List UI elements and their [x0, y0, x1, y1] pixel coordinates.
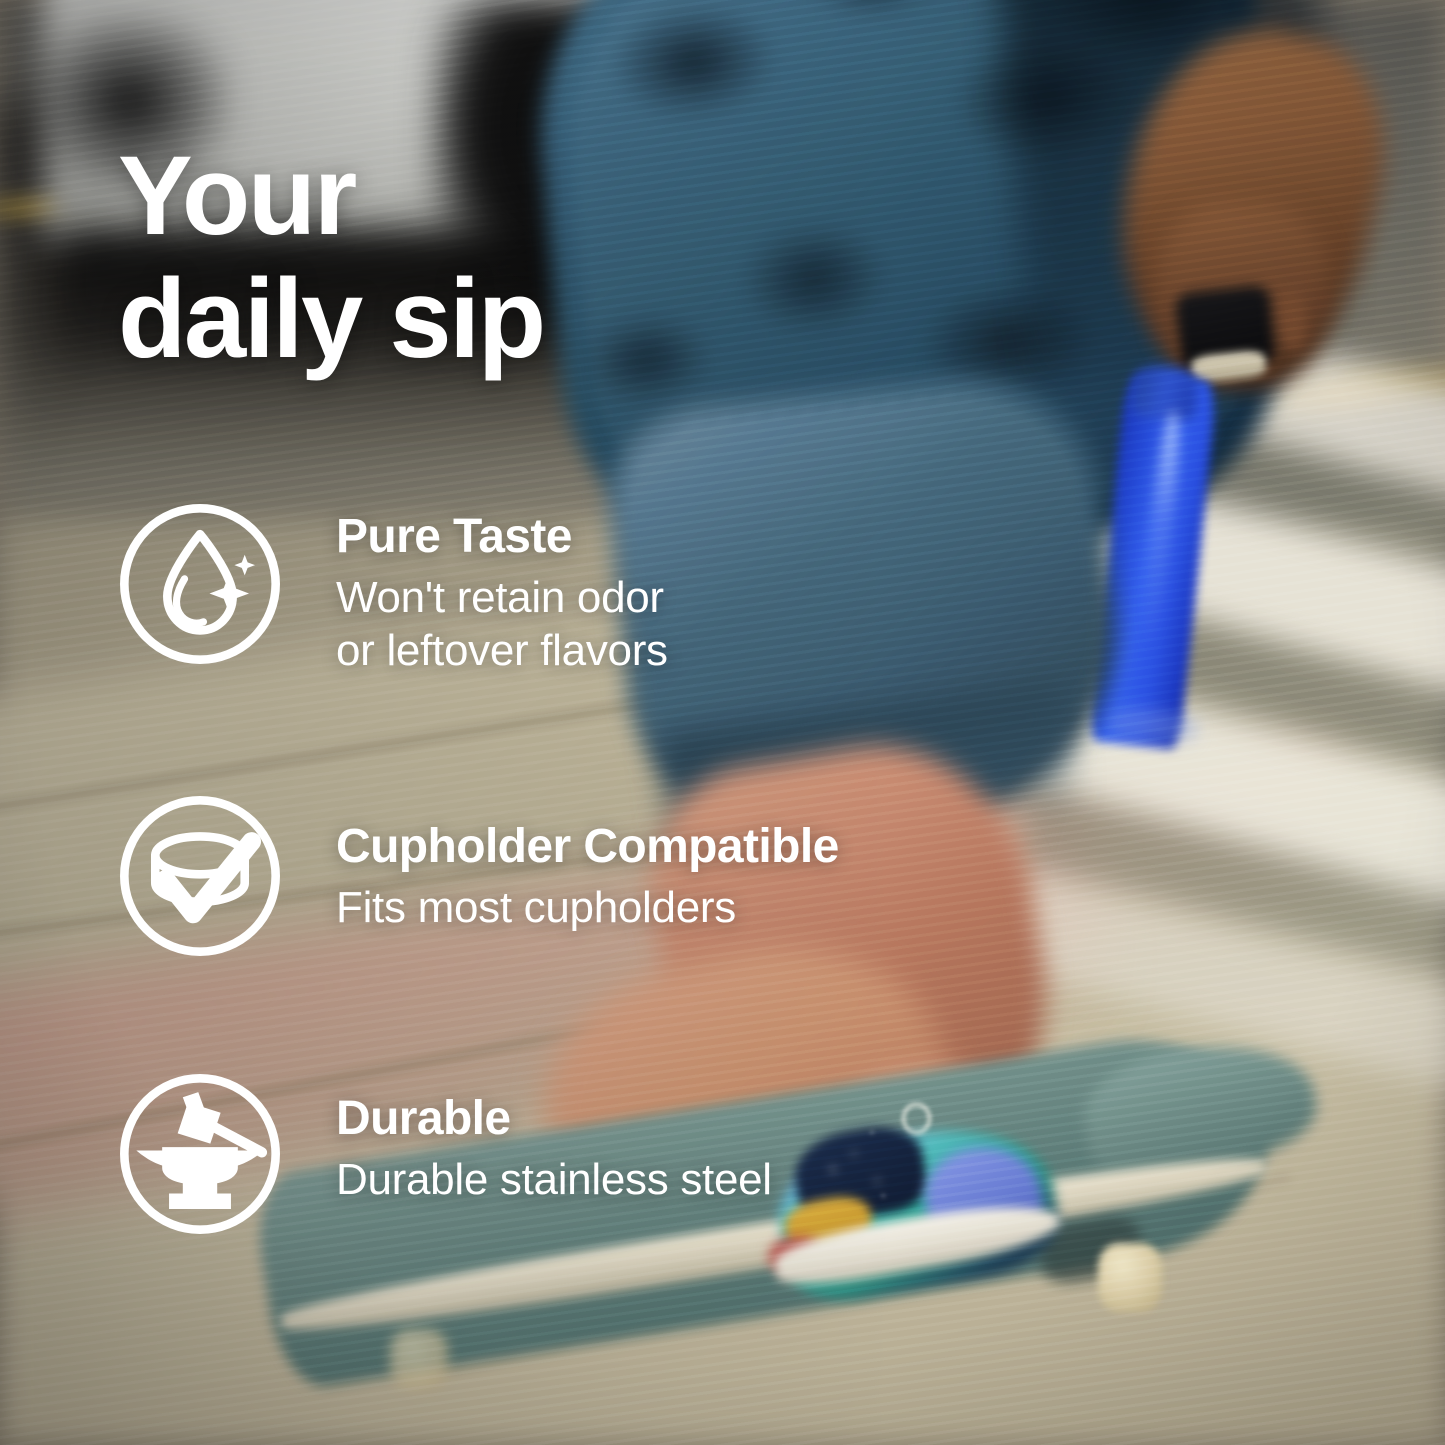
water-drop-sparkle-icon — [114, 498, 286, 670]
marketing-overlay: Your daily sip Pure Taste Won't retain o… — [0, 0, 1445, 1445]
feature-title: Cupholder Compatible — [336, 822, 839, 872]
feature-text: Cupholder Compatible Fits most cupholder… — [336, 790, 839, 935]
hammer-anvil-icon — [114, 1068, 286, 1240]
feature-description: Durable stainless steel — [336, 1154, 772, 1207]
headline: Your daily sip — [118, 134, 544, 380]
feature-item-cupholder-compatible: Cupholder Compatible Fits most cupholder… — [114, 790, 1445, 962]
feature-description: Won't retain odor or leftover flavors — [336, 572, 668, 678]
feature-title: Pure Taste — [336, 512, 668, 562]
feature-description: Fits most cupholders — [336, 882, 839, 935]
feature-item-pure-taste: Pure Taste Won't retain odor or leftover… — [114, 498, 1445, 678]
feature-list: Pure Taste Won't retain odor or leftover… — [0, 498, 1445, 1240]
product-feature-ad: Your daily sip Pure Taste Won't retain o… — [0, 0, 1445, 1445]
feature-title: Durable — [336, 1094, 772, 1144]
feature-text: Pure Taste Won't retain odor or leftover… — [336, 498, 668, 678]
cupholder-check-icon — [114, 790, 286, 962]
feature-item-durable: Durable Durable stainless steel — [114, 1068, 1445, 1240]
feature-text: Durable Durable stainless steel — [336, 1068, 772, 1207]
